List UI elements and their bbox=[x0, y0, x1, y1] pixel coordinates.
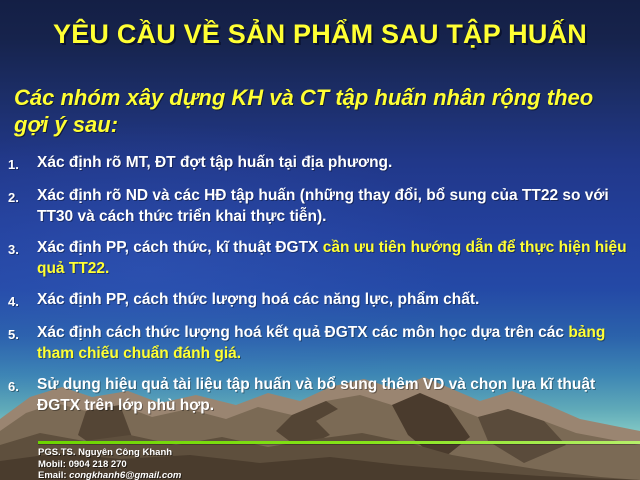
list-item-marker: 4. bbox=[8, 289, 37, 312]
list-item-marker: 3. bbox=[8, 237, 37, 260]
list-item-segment: Xác định rõ MT, ĐT đợt tập huấn tại địa … bbox=[37, 154, 392, 171]
list-item-text: Xác định cách thức lượng hoá kết quả ĐGT… bbox=[37, 322, 633, 364]
list-item-text: Xác định rõ ND và các HĐ tập huấn (những… bbox=[37, 185, 633, 227]
list-item-text: Xác định PP, cách thức lượng hoá các năn… bbox=[37, 289, 633, 310]
list-item: 5.Xác định cách thức lượng hoá kết quả Đ… bbox=[8, 322, 633, 364]
numbered-requirements-list: 1.Xác định rõ MT, ĐT đợt tập huấn tại đị… bbox=[8, 152, 633, 426]
list-item: 4.Xác định PP, cách thức lượng hoá các n… bbox=[8, 289, 633, 312]
divider-line-green bbox=[38, 441, 640, 444]
list-item-marker: 2. bbox=[8, 185, 37, 208]
presenter-mobile: Mobil: 0904 218 270 bbox=[38, 459, 181, 471]
list-item-text: Sử dụng hiệu quả tài liệu tập huấn và bổ… bbox=[37, 374, 633, 416]
list-item: 6.Sử dụng hiệu quả tài liệu tập huấn và … bbox=[8, 374, 633, 416]
list-item-segment: Xác định rõ ND và các HĐ tập huấn (những… bbox=[37, 187, 609, 225]
list-item: 1.Xác định rõ MT, ĐT đợt tập huấn tại đị… bbox=[8, 152, 633, 175]
slide-canvas: YÊU CẦU VỀ SẢN PHẨM SAU TẬP HUẤN Các nhó… bbox=[0, 0, 640, 480]
slide-subtitle: Các nhóm xây dựng KH và CT tập huấn nhân… bbox=[14, 84, 629, 138]
list-item: 2.Xác định rõ ND và các HĐ tập huấn (nhữ… bbox=[8, 185, 633, 227]
page-title: YÊU CẦU VỀ SẢN PHẨM SAU TẬP HUẤN bbox=[0, 19, 640, 50]
presenter-email-line: Email: congkhanh6@gmail.com bbox=[38, 470, 181, 480]
presenter-email[interactable]: congkhanh6@gmail.com bbox=[69, 470, 181, 480]
list-item-text: Xác định rõ MT, ĐT đợt tập huấn tại địa … bbox=[37, 152, 633, 173]
list-item-segment: Xác định PP, cách thức, kĩ thuật ĐGTX bbox=[37, 239, 323, 256]
email-label: Email: bbox=[38, 470, 69, 480]
list-item-segment: Sử dụng hiệu quả tài liệu tập huấn và bổ… bbox=[37, 376, 595, 414]
list-item-segment: Xác định PP, cách thức lượng hoá các năn… bbox=[37, 291, 479, 308]
list-item-segment: Xác định cách thức lượng hoá kết quả ĐGT… bbox=[37, 324, 568, 341]
presenter-name: PGS.TS. Nguyên Công Khanh bbox=[38, 447, 181, 459]
list-item-marker: 6. bbox=[8, 374, 37, 397]
list-item-marker: 1. bbox=[8, 152, 37, 175]
presenter-contact-footer: PGS.TS. Nguyên Công Khanh Mobil: 0904 21… bbox=[38, 447, 181, 480]
list-item-text: Xác định PP, cách thức, kĩ thuật ĐGTX cầ… bbox=[37, 237, 633, 279]
list-item-marker: 5. bbox=[8, 322, 37, 345]
list-item: 3.Xác định PP, cách thức, kĩ thuật ĐGTX … bbox=[8, 237, 633, 279]
